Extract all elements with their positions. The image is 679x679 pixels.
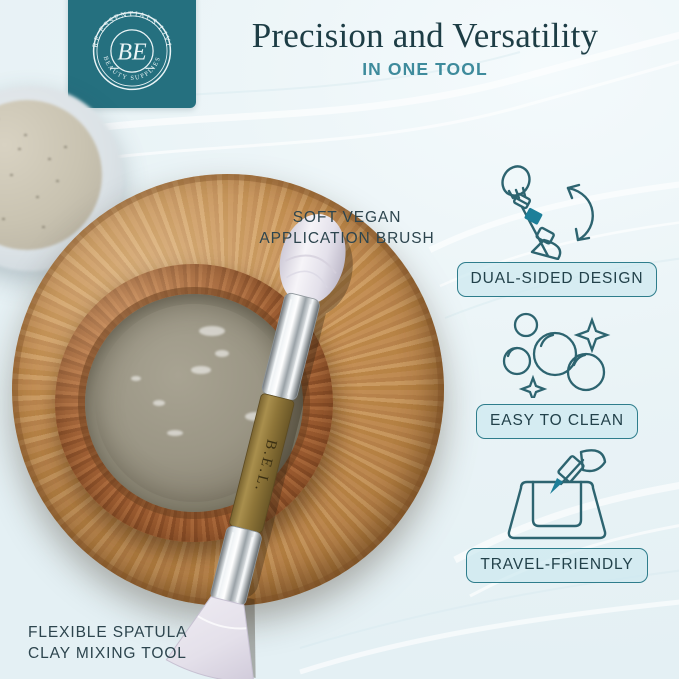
caption-spatula-line1: FLEXIBLE SPATULA [28,622,187,643]
feature-easy-to-clean: EASY TO CLEAN [452,300,662,439]
feature-pill-easy-to-clean[interactable]: EASY TO CLEAN [476,404,638,439]
bubbles-sparkle-icon [452,300,662,404]
feature-travel-friendly: TRAVEL-FRIENDLY [452,444,662,583]
caption-brush-line1: SOFT VEGAN [252,207,442,228]
infographic-canvas: BARE ESSENTIALS LIVING BEAUTY SUPPLIES B… [0,0,679,679]
caption-spatula: FLEXIBLE SPATULA CLAY MIXING TOOL [28,622,187,664]
product-photo: B.E.L. SOFT VEGAN APPLICATION BRUSH [0,88,470,648]
svg-text:BE: BE [117,40,147,66]
dual-brush-rotate-icon [452,158,662,262]
caption-brush: SOFT VEGAN APPLICATION BRUSH [252,207,442,249]
brand-logo-icon: BARE ESSENTIALS LIVING BEAUTY SUPPLIES B… [84,3,180,99]
travel-pouch-brush-icon [452,444,662,548]
page-title: Precision and Versatility [200,16,650,56]
feature-pill-dual-sided-design[interactable]: DUAL-SIDED DESIGN [457,262,658,297]
page-subtitle: IN ONE TOOL [200,59,650,80]
header-text: Precision and Versatility IN ONE TOOL [200,16,650,80]
feature-dual-sided-design: DUAL-SIDED DESIGN [452,158,662,297]
caption-brush-line2: APPLICATION BRUSH [252,228,442,249]
feature-pill-travel-friendly[interactable]: TRAVEL-FRIENDLY [466,548,647,583]
caption-spatula-line2: CLAY MIXING TOOL [28,643,187,664]
